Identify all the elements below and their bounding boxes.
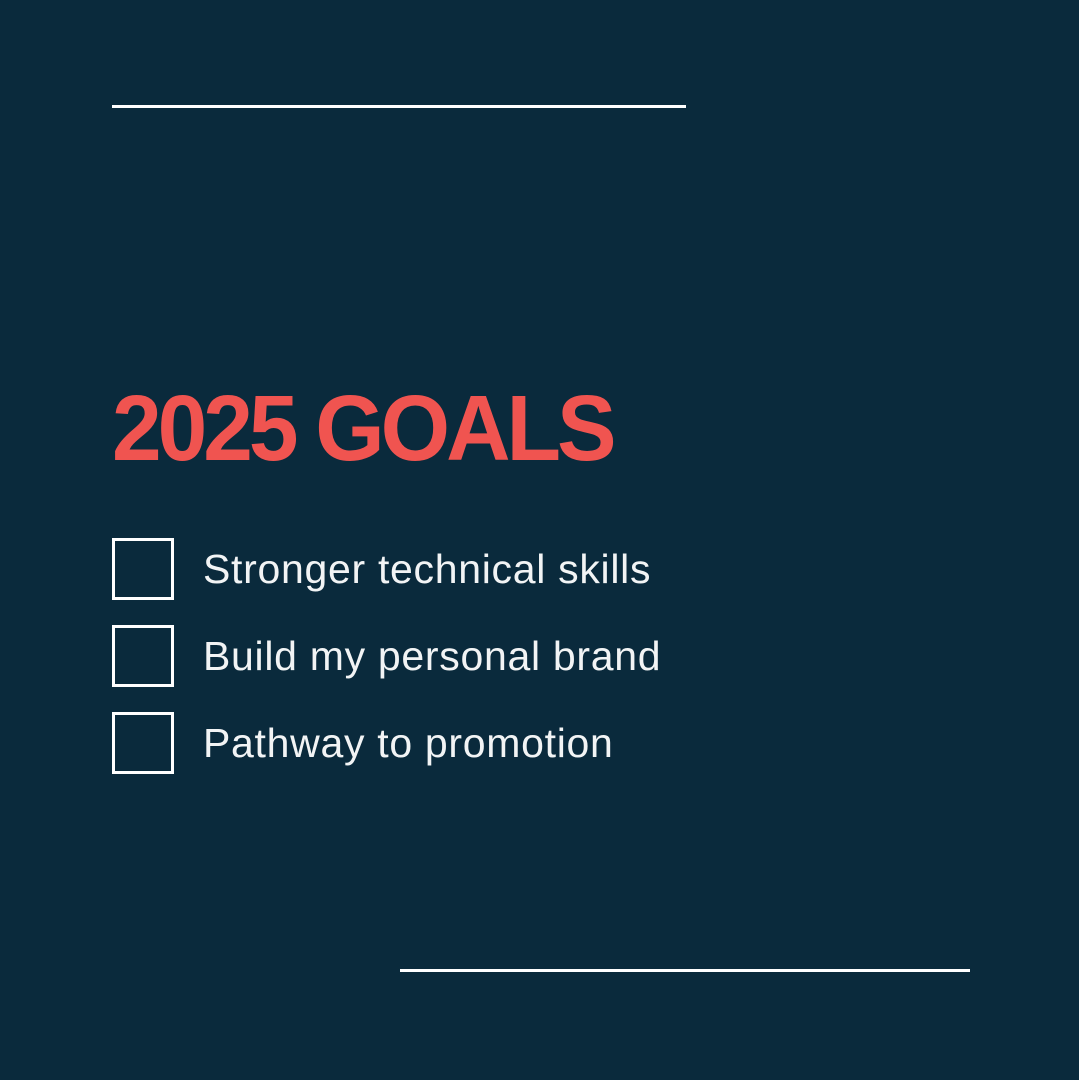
goals-checklist: Stronger technical skills Build my perso… [112,538,932,774]
list-item-label: Build my personal brand [203,625,661,687]
bottom-divider-rule [400,969,970,972]
top-divider-rule [112,105,686,108]
checkbox-icon[interactable] [112,712,174,774]
list-item[interactable]: Stronger technical skills [112,538,932,600]
list-item[interactable]: Pathway to promotion [112,712,932,774]
page-title: 2025 GOALS [112,380,613,476]
list-item[interactable]: Build my personal brand [112,625,932,687]
list-item-label: Pathway to promotion [203,712,614,774]
list-item-label: Stronger technical skills [203,538,651,600]
checkbox-icon[interactable] [112,625,174,687]
checkbox-icon[interactable] [112,538,174,600]
goals-poster: 2025 GOALS Stronger technical skills Bui… [0,0,1079,1080]
